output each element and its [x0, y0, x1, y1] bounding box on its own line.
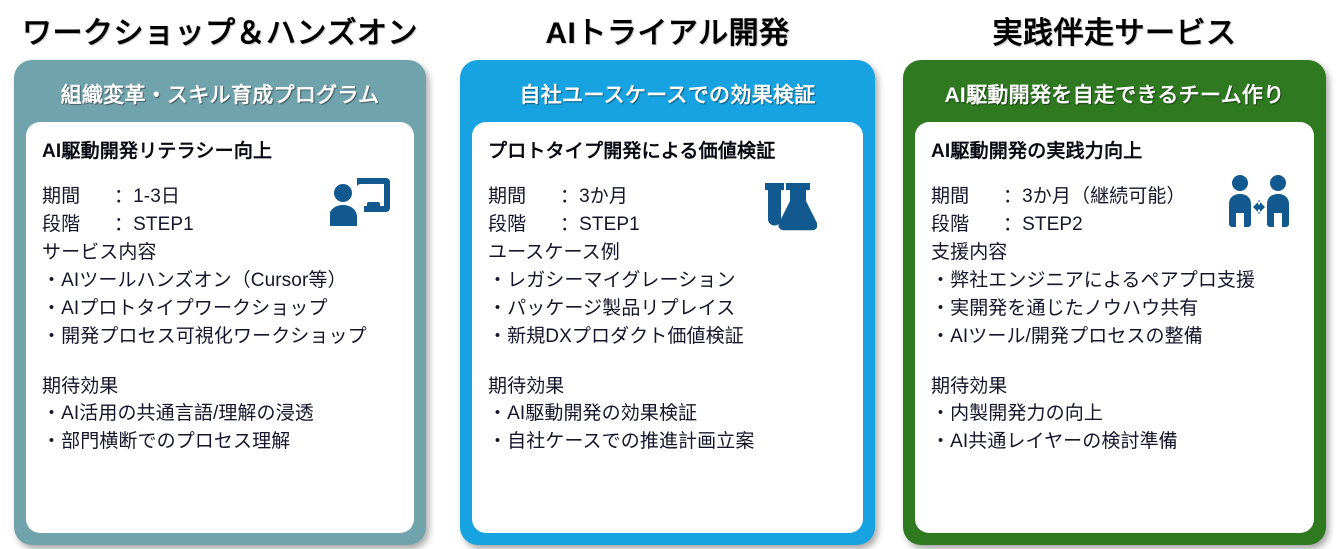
effect-item: ・AI活用の共通言語/理解の浸透	[42, 400, 398, 428]
section-spacer	[931, 351, 1298, 373]
effect-label: 期待効果	[931, 373, 1298, 401]
service-card: AI駆動開発の実践力向上 期間：3か月（継続	[915, 122, 1314, 533]
effect-item: ・AI共通レイヤーの検討準備	[931, 428, 1298, 456]
panel-banner: 組織変革・スキル育成プログラム	[26, 70, 414, 122]
effect-item: ・内製開発力の向上	[931, 400, 1298, 428]
section-spacer	[42, 351, 398, 373]
effect-item: ・AI駆動開発の効果検証	[488, 400, 847, 428]
panel-banner: 自社ユースケースでの効果検証	[472, 70, 863, 122]
service-column-trial: AIトライアル開発 自社ユースケースでの効果検証 プロトタイプ開発による価値検証…	[446, 0, 893, 545]
duration-key: 期間	[488, 183, 560, 211]
column-heading: 実践伴走サービス	[903, 0, 1326, 60]
content-item: ・レガシーマイグレーション	[488, 267, 847, 295]
effect-label: 期待効果	[488, 373, 847, 401]
flask-testtube-icon	[763, 180, 817, 232]
columns-container: ワークショップ＆ハンズオン 組織変革・スキル育成プログラム AI駆動開発リテラシ…	[0, 0, 1340, 549]
duration-key: 期間	[931, 183, 1003, 211]
service-column-workshop: ワークショップ＆ハンズオン 組織変革・スキル育成プログラム AI駆動開発リテラシ…	[0, 0, 446, 545]
card-title: プロトタイプ開発による価値検証	[488, 136, 847, 163]
content-label: 支援内容	[931, 239, 1298, 267]
service-card: AI駆動開発リテラシー向上 期間：1-3日	[26, 122, 414, 533]
content-item: ・AIツールハンズオン（Cursor等）	[42, 267, 398, 295]
duration-key: 期間	[42, 183, 114, 211]
stage-value: ：STEP1	[560, 214, 640, 235]
two-people-exchange-icon	[1228, 174, 1290, 228]
service-panel: AI駆動開発を自走できるチーム作り AI駆動開発の実践力向上	[903, 60, 1326, 545]
content-item: ・AIプロトタイプワークショップ	[42, 295, 398, 323]
content-label: サービス内容	[42, 239, 398, 267]
presentation-training-icon	[330, 176, 390, 228]
service-offering-diagram: ワークショップ＆ハンズオン 組織変革・スキル育成プログラム AI駆動開発リテラシ…	[0, 0, 1340, 549]
content-item: ・弊社エンジニアによるペアプロ支援	[931, 267, 1298, 295]
card-title: AI駆動開発の実践力向上	[931, 136, 1298, 163]
effect-item: ・部門横断でのプロセス理解	[42, 428, 398, 456]
duration-value: ：1-3日	[114, 186, 180, 207]
column-heading: ワークショップ＆ハンズオン	[14, 0, 426, 60]
service-card: プロトタイプ開発による価値検証 期間：3か月 段階：STEP1	[472, 122, 863, 533]
stage-value: ：STEP2	[1003, 214, 1083, 235]
panel-banner: AI駆動開発を自走できるチーム作り	[915, 70, 1314, 122]
service-panel: 組織変革・スキル育成プログラム AI駆動開発リテラシー向上 期間：	[14, 60, 426, 545]
service-column-coaching: 実践伴走サービス AI駆動開発を自走できるチーム作り AI駆動開発の実践力向上	[893, 0, 1340, 545]
content-item: ・実開発を通じたノウハウ共有	[931, 295, 1298, 323]
effect-item: ・自社ケースでの推進計画立案	[488, 428, 847, 456]
stage-key: 段階	[488, 211, 560, 239]
section-spacer	[488, 351, 847, 373]
content-item: ・AIツール/開発プロセスの整備	[931, 323, 1298, 351]
duration-value: ：3か月（継続可能）	[1003, 186, 1186, 207]
stage-key: 段階	[42, 211, 114, 239]
content-item: ・開発プロセス可視化ワークショップ	[42, 323, 398, 351]
service-panel: 自社ユースケースでの効果検証 プロトタイプ開発による価値検証 期間：3か月	[460, 60, 875, 545]
effect-label: 期待効果	[42, 373, 398, 401]
duration-value: ：3か月	[560, 186, 628, 207]
column-heading: AIトライアル開発	[460, 0, 875, 60]
content-label: ユースケース例	[488, 239, 847, 267]
content-item: ・新規DXプロダクト価値検証	[488, 323, 847, 351]
content-item: ・パッケージ製品リプレイス	[488, 295, 847, 323]
card-title: AI駆動開発リテラシー向上	[42, 136, 398, 163]
stage-value: ：STEP1	[114, 214, 194, 235]
stage-key: 段階	[931, 211, 1003, 239]
